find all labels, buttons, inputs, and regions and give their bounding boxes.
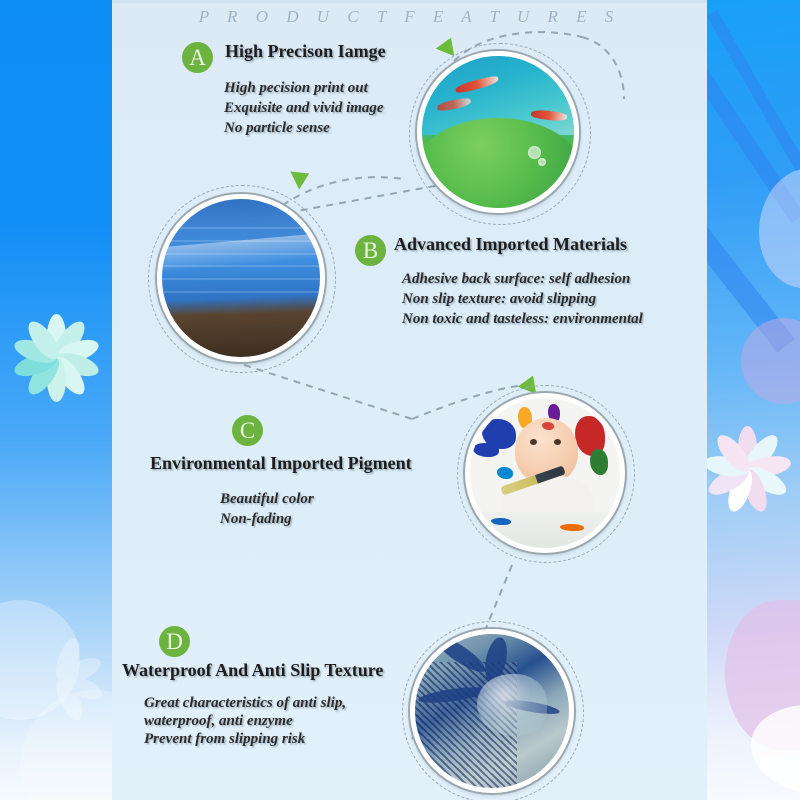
body-line-a-1: High pecision print out [224,78,368,98]
body-line-b-3: Non toxic and tasteless: environmental [402,309,643,329]
heading-d: Waterproof And Anti Slip Texture [122,660,383,681]
heading-b: Advanced Imported Materials [394,234,627,255]
decor-blob [741,318,800,404]
page-title: P R O D U C T F E A T U R E S [112,7,707,27]
body-line-c-1: Beautiful color [220,489,314,509]
heading-a: High Precison Iamge [225,41,386,62]
body-line-c-2: Non-fading [220,509,292,529]
arrow-to-photo-b [290,165,313,190]
body-line-b-1: Adhesive back surface: self adhesion [402,269,630,289]
body-line-a-3: No particle sense [224,118,330,138]
heading-c: Environmental Imported Pigment [150,453,412,474]
body-line-d-2: waterproof, anti enzyme [144,711,293,731]
badge-letter-a: A [182,42,213,73]
body-line-a-2: Exquisite and vivid image [224,98,384,118]
left-decorative-band [0,0,112,800]
photo-environmental-imported-pigment [465,393,625,553]
right-decorative-band [707,0,800,800]
photo-waterproof-anti-slip-texture [410,629,574,793]
connector-arc-a2 [582,37,624,99]
body-line-d-1: Great characteristics of anti slip, [144,693,346,713]
body-line-b-2: Non slip texture: avoid slipping [402,289,596,309]
badge-letter-c: C [232,415,263,446]
content-panel: P R O D U C T F E A T U R E S A High Pre… [112,0,707,800]
infographic-canvas: P R O D U C T F E A T U R E S A High Pre… [0,0,800,800]
photo-advanced-imported-materials [157,194,325,362]
body-line-d-3: Prevent from slipping risk [144,729,305,749]
photo-high-precision-image [417,51,579,213]
badge-letter-b: B [355,235,386,266]
badge-letter-d: D [159,626,190,657]
decor-petal [759,168,800,288]
